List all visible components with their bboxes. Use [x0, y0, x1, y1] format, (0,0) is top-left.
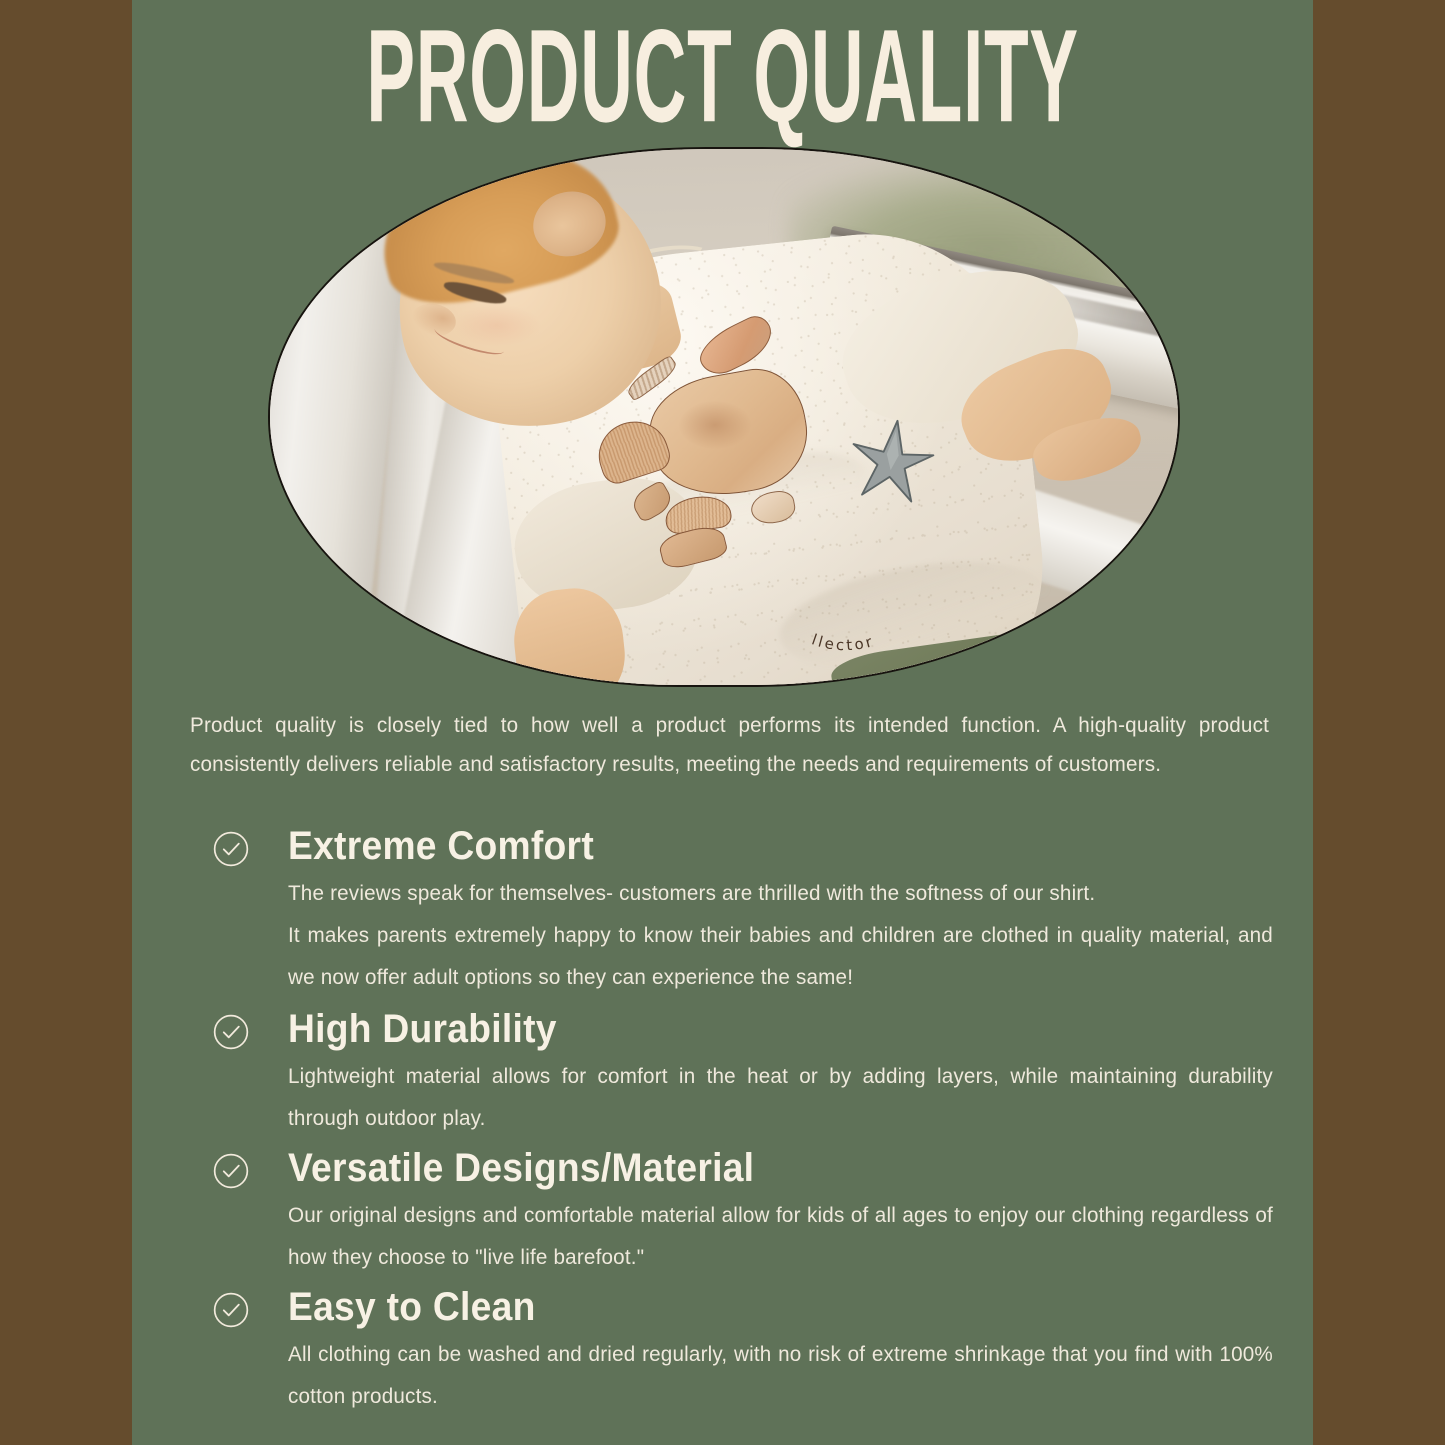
- shirt-starfish-icon: [828, 409, 957, 510]
- svg-text:llector: llector: [810, 631, 877, 655]
- check-circle-icon: [212, 1291, 250, 1329]
- feature-body: Lightweight material allows for comfort …: [288, 1051, 1273, 1139]
- check-circle-icon: [212, 1013, 250, 1051]
- feature-body-line: All clothing can be washed and dried reg…: [288, 1333, 1273, 1417]
- feature-body: Our original designs and comfortable mat…: [288, 1190, 1273, 1278]
- shirt-large-shell-shadow: [679, 401, 752, 449]
- feature-heading: Extreme Comfort: [288, 825, 594, 867]
- check-circle-icon: [212, 830, 250, 868]
- feature-heading: Versatile Designs/Material: [288, 1147, 754, 1189]
- feature-body-line: Our original designs and comfortable mat…: [288, 1194, 1273, 1278]
- slide-panel: ' PRODUCT QUALITY: [132, 0, 1313, 1445]
- feature-body-line: Lightweight material allows for comfort …: [288, 1055, 1273, 1139]
- hero-image: llector: [268, 147, 1180, 687]
- feature-heading: High Durability: [288, 1008, 557, 1050]
- shirt-collector-text: llector: [742, 524, 1051, 663]
- check-circle-icon: [212, 1152, 250, 1190]
- feature-body-line: The reviews speak for themselves- custom…: [288, 872, 1273, 914]
- feature-item: Versatile Designs/Material Our original …: [212, 1147, 1313, 1278]
- feature-heading: Easy to Clean: [288, 1286, 536, 1328]
- feature-body: All clothing can be washed and dried reg…: [288, 1329, 1273, 1417]
- intro-paragraph: Product quality is closely tied to how w…: [190, 706, 1269, 784]
- feature-item: High Durability Lightweight material all…: [212, 1008, 1313, 1139]
- feature-body-line: It makes parents extremely happy to know…: [288, 914, 1273, 998]
- feature-body: The reviews speak for themselves- custom…: [288, 868, 1273, 998]
- feature-list: Extreme Comfort The reviews speak for th…: [212, 825, 1313, 1419]
- feature-item: Extreme Comfort The reviews speak for th…: [212, 825, 1313, 998]
- feature-item: Easy to Clean All clothing can be washed…: [212, 1286, 1313, 1417]
- page-title: PRODUCT QUALITY: [356, 16, 1088, 137]
- top-crop-mark: ': [1187, 0, 1197, 6]
